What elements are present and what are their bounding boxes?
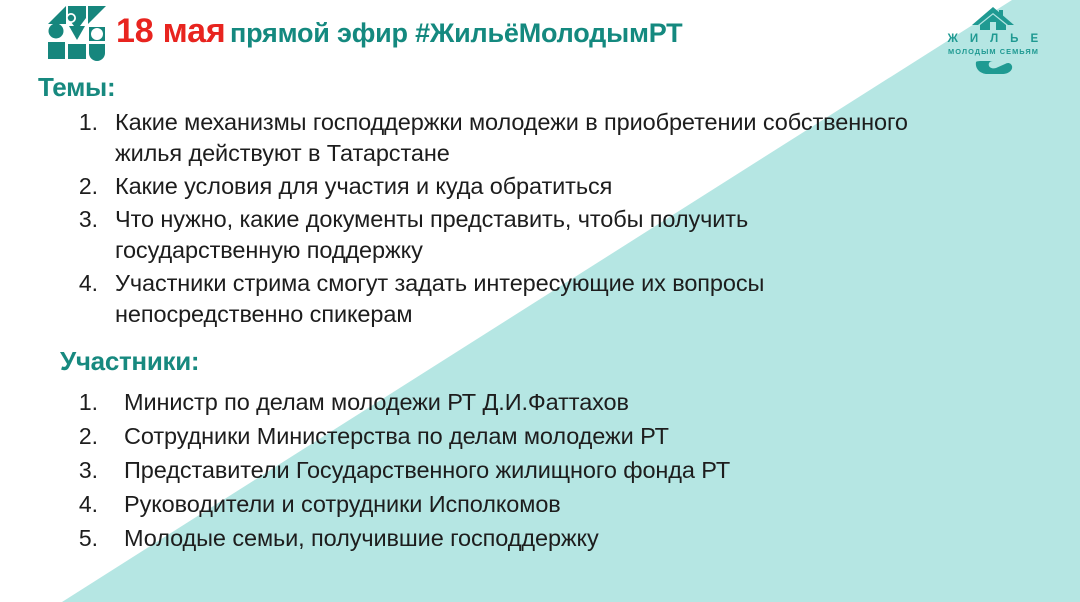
- m-mosaic-logo-icon: [46, 4, 108, 62]
- page-title: 18 мая прямой эфир #ЖильёМолодымРТ: [116, 14, 682, 48]
- list-item: 1. Какие механизмы господдержки молодежи…: [68, 107, 918, 169]
- list-item-number: 4.: [68, 489, 98, 520]
- brand-name: Ж И Л Ь Е: [938, 33, 1048, 45]
- broadcast-subtitle: прямой эфир #ЖильёМолодымРТ: [230, 18, 682, 48]
- house-icon: [938, 6, 1048, 32]
- list-item-text: Участники стрима смогут задать интересую…: [115, 268, 918, 330]
- list-item-text: Министр по делам молодежи РТ Д.И.Фаттахо…: [124, 387, 928, 418]
- list-item-text: Представители Государственного жилищного…: [124, 455, 928, 486]
- broadcast-date: 18 мая: [116, 12, 226, 50]
- brand-logo: Ж И Л Ь Е МОЛОДЫМ СЕМЬЯМ: [938, 6, 1048, 76]
- list-item: 3. Что нужно, какие документы представит…: [68, 204, 918, 266]
- list-item: 2. Сотрудники Министерства по делам моло…: [68, 421, 928, 452]
- slide-canvas: 18 мая прямой эфир #ЖильёМолодымРТ Ж И Л…: [0, 0, 1080, 602]
- slide-content: Темы: 1. Какие механизмы господдержки мо…: [0, 0, 1080, 602]
- list-item: 3. Представители Государственного жилищн…: [68, 455, 928, 486]
- list-item-text: Молодые семьи, получившие господдержку: [124, 523, 928, 554]
- members-list: 1. Министр по делам молодежи РТ Д.И.Фатт…: [68, 387, 928, 557]
- list-item-number: 4.: [68, 268, 98, 299]
- list-item-number: 3.: [68, 455, 98, 486]
- list-item-number: 2.: [68, 171, 98, 202]
- list-item-text: Сотрудники Министерства по делам молодеж…: [124, 421, 928, 452]
- list-item-number: 5.: [68, 523, 98, 554]
- brand-tagline: МОЛОДЫМ СЕМЬЯМ: [938, 47, 1048, 56]
- list-item-number: 1.: [68, 387, 98, 418]
- list-item-number: 2.: [68, 421, 98, 452]
- topics-list: 1. Какие механизмы господдержки молодежи…: [68, 107, 918, 332]
- list-item: 4. Участники стрима смогут задать интере…: [68, 268, 918, 330]
- list-item-text: Что нужно, какие документы представить, …: [115, 204, 918, 266]
- list-item-text: Руководители и сотрудники Исполкомов: [124, 489, 928, 520]
- list-item-number: 3.: [68, 204, 98, 235]
- list-item: 5. Молодые семьи, получившие господдержк…: [68, 523, 928, 554]
- list-item: 1. Министр по делам молодежи РТ Д.И.Фатт…: [68, 387, 928, 418]
- list-item-text: Какие условия для участия и куда обратит…: [115, 171, 918, 202]
- slide-header: 18 мая прямой эфир #ЖильёМолодымРТ: [0, 0, 1080, 66]
- open-hand-icon: [938, 59, 1048, 76]
- list-item: 2. Какие условия для участия и куда обра…: [68, 171, 918, 202]
- list-item-text: Какие механизмы господдержки молодежи в …: [115, 107, 918, 169]
- list-item-number: 1.: [68, 107, 98, 138]
- list-item: 4. Руководители и сотрудники Исполкомов: [68, 489, 928, 520]
- members-section-title: Участники:: [60, 346, 199, 377]
- topics-section-title: Темы:: [38, 72, 115, 103]
